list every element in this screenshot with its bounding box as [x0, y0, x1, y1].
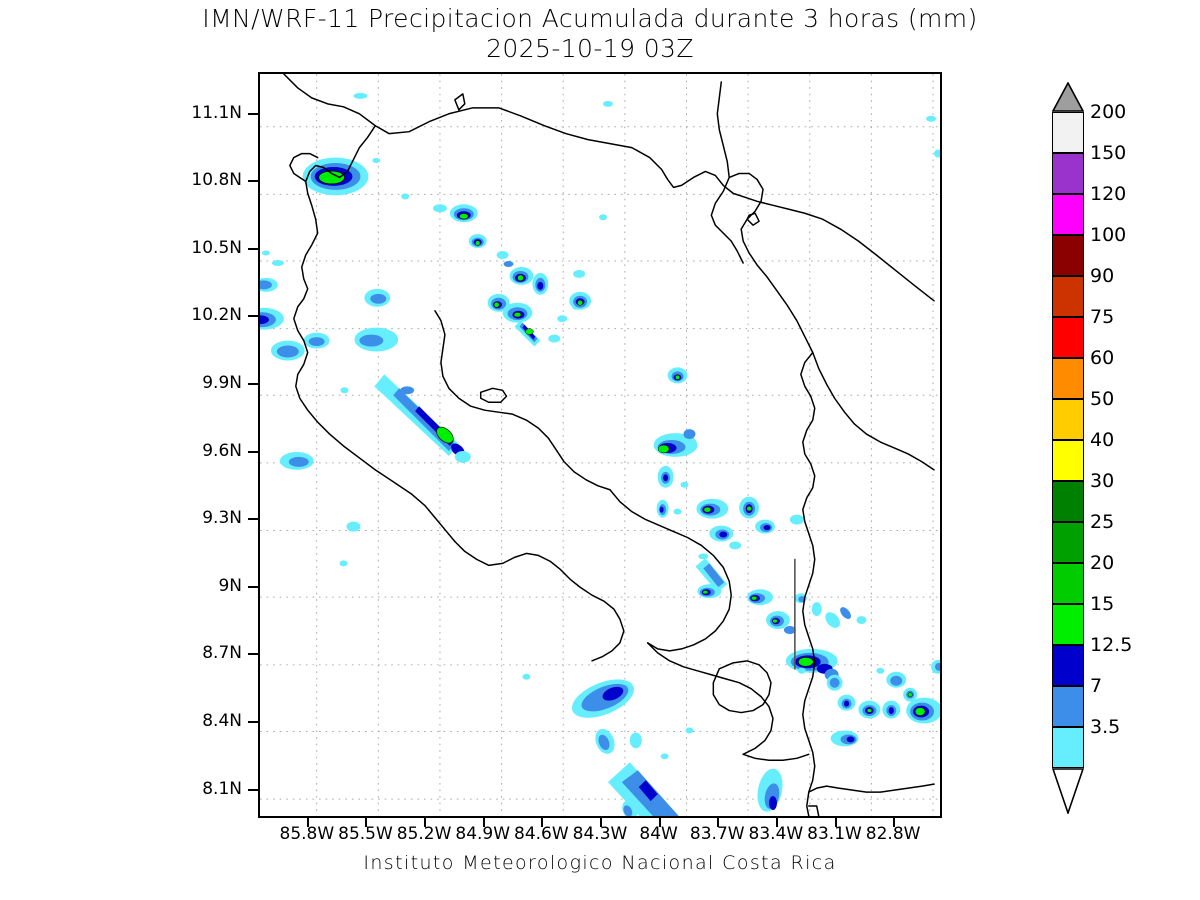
colorbar-tick-label: 40 — [1090, 429, 1114, 451]
colorbar-swatch — [1052, 153, 1084, 194]
x-axis-tick-label: 82.8W — [855, 824, 931, 844]
y-axis-tick-mark — [248, 586, 258, 588]
colorbar-tick-label: 15 — [1090, 593, 1114, 615]
y-axis-tick-label: 11.1N — [172, 103, 242, 123]
x-axis-tick-mark — [483, 818, 485, 827]
colorbar-under-arrow — [1052, 768, 1084, 814]
y-axis-tick-label: 10.8N — [172, 170, 242, 190]
colorbar-tick-label: 200 — [1090, 101, 1126, 123]
x-axis-tick-mark — [600, 818, 602, 827]
colorbar-swatch — [1052, 604, 1084, 645]
colorbar-tick-label: 75 — [1090, 306, 1114, 328]
colorbar-swatch — [1052, 522, 1084, 563]
y-axis-tick-mark — [248, 653, 258, 655]
coastline-borders — [260, 74, 940, 816]
colorbar-swatch — [1052, 440, 1084, 481]
y-axis-tick-mark — [248, 315, 258, 317]
colorbar-tick-label: 30 — [1090, 470, 1114, 492]
x-axis-tick-mark — [307, 818, 309, 827]
colorbar-tick-label: 25 — [1090, 511, 1114, 533]
y-axis-tick-label: 9.9N — [172, 373, 242, 393]
x-axis-tick-mark — [365, 818, 367, 827]
x-axis-tick-mark — [717, 818, 719, 827]
colorbar-tick-label: 90 — [1090, 265, 1114, 287]
y-axis-tick-mark — [248, 383, 258, 385]
y-axis-tick-mark — [248, 248, 258, 250]
colorbar-tick-label: 12.5 — [1090, 634, 1132, 656]
y-axis-tick-label: 10.5N — [172, 238, 242, 258]
colorbar-swatch — [1052, 481, 1084, 522]
colorbar-over-arrow — [1052, 82, 1084, 112]
colorbar[interactable]: 3.5712.5152025304050607590100120150200 — [1052, 112, 1084, 768]
footer-credit: Instituto Meteorologico Nacional Costa R… — [258, 852, 942, 874]
colorbar-swatch — [1052, 645, 1084, 686]
colorbar-tick-label: 120 — [1090, 183, 1126, 205]
y-axis-tick-mark — [248, 789, 258, 791]
x-axis-tick-mark — [541, 818, 543, 827]
x-axis-tick-mark — [893, 818, 895, 827]
colorbar-swatch — [1052, 194, 1084, 235]
colorbar-tick-label: 3.5 — [1090, 716, 1120, 738]
y-axis-tick-mark — [248, 518, 258, 520]
y-axis-tick-mark — [248, 451, 258, 453]
y-axis-tick-label: 8.4N — [172, 711, 242, 731]
y-axis-tick-mark — [248, 113, 258, 115]
chart-title: IMN/WRF-11 Precipitacion Acumulada duran… — [0, 4, 1180, 33]
x-axis-tick-mark — [835, 818, 837, 827]
colorbar-swatch — [1052, 686, 1084, 727]
y-axis-tick-mark — [248, 180, 258, 182]
x-axis-tick-mark — [424, 818, 426, 827]
colorbar-swatch — [1052, 276, 1084, 317]
y-axis-tick-mark — [248, 721, 258, 723]
chart-subtitle: 2025-10-19 03Z — [0, 34, 1180, 63]
y-axis-tick-label: 9.6N — [172, 441, 242, 461]
colorbar-swatch — [1052, 358, 1084, 399]
colorbar-tick-label: 50 — [1090, 388, 1114, 410]
colorbar-swatch — [1052, 235, 1084, 276]
y-axis-tick-label: 8.7N — [172, 643, 242, 663]
y-axis-tick-label: 10.2N — [172, 305, 242, 325]
x-axis-tick-mark — [659, 818, 661, 827]
colorbar-swatch — [1052, 563, 1084, 604]
chart-title-block: IMN/WRF-11 Precipitacion Acumulada duran… — [0, 4, 1180, 63]
colorbar-tick-label: 100 — [1090, 224, 1126, 246]
map-plot-area[interactable] — [258, 72, 942, 818]
colorbar-swatch — [1052, 317, 1084, 358]
colorbar-swatch — [1052, 399, 1084, 440]
colorbar-swatch — [1052, 112, 1084, 153]
colorbar-tick-label: 60 — [1090, 347, 1114, 369]
colorbar-tick-label: 7 — [1090, 675, 1102, 697]
x-axis-tick-mark — [776, 818, 778, 827]
colorbar-tick-label: 150 — [1090, 142, 1126, 164]
colorbar-swatch — [1052, 727, 1084, 768]
y-axis-tick-label: 9N — [172, 576, 242, 596]
colorbar-tick-label: 20 — [1090, 552, 1114, 574]
y-axis-tick-label: 8.1N — [172, 779, 242, 799]
y-axis-tick-label: 9.3N — [172, 508, 242, 528]
